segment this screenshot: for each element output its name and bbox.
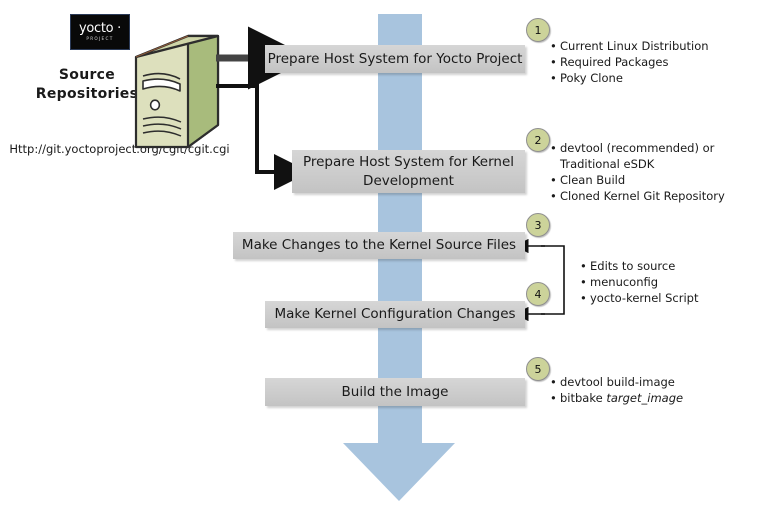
bullet-dot-icon: • — [580, 258, 590, 274]
process-box-step-2-label: Prepare Host System for Kernel Developme… — [292, 153, 525, 191]
process-box-step-5-label: Build the Image — [342, 383, 449, 402]
step-number-4: 4 — [526, 282, 550, 306]
bullet-dot-icon: • — [580, 274, 590, 290]
process-box-step-3[interactable]: Make Changes to the Kernel Source Files — [233, 232, 525, 259]
bullet-dot-icon: • — [550, 172, 560, 188]
process-box-step-3-label: Make Changes to the Kernel Source Files — [242, 236, 516, 255]
process-box-step-2[interactable]: Prepare Host System for Kernel Developme… — [292, 150, 525, 193]
step-number-3: 3 — [526, 213, 550, 237]
process-box-step-5[interactable]: Build the Image — [265, 378, 525, 406]
process-box-step-1[interactable]: Prepare Host System for Yocto Project — [265, 45, 525, 73]
step-number-5: 5 — [526, 357, 550, 381]
process-box-step-4-label: Make Kernel Configuration Changes — [274, 305, 515, 324]
step-number-4-value: 4 — [535, 288, 542, 301]
list-item: • devtool (recommended) or Traditional e… — [550, 140, 766, 172]
bullet-text: Clean Build — [560, 172, 766, 188]
bullet-list-step-1: • Current Linux Distribution • Required … — [550, 38, 764, 86]
list-item: • devtool build-image — [550, 374, 760, 390]
logo-subtitle: PROJECT — [86, 36, 113, 42]
server-tower-icon — [133, 33, 221, 153]
bullet-text: Poky Clone — [560, 70, 764, 86]
list-item: • Required Packages — [550, 54, 764, 70]
step-number-5-value: 5 — [535, 363, 542, 376]
bullet-text: menuconfig — [590, 274, 760, 290]
flow-arrow-head — [343, 443, 455, 501]
process-box-step-1-label: Prepare Host System for Yocto Project — [268, 50, 523, 69]
list-item: • Poky Clone — [550, 70, 764, 86]
bullet-text: yocto-kernel Script — [590, 290, 760, 306]
logo-wordmark: yocto · — [79, 22, 121, 35]
diagram-canvas: yocto · PROJECT Source Repositories Http… — [0, 0, 769, 517]
list-item: • Current Linux Distribution — [550, 38, 764, 54]
bullet-dot-icon: • — [550, 188, 560, 204]
list-item: • Cloned Kernel Git Repository — [550, 188, 766, 204]
bullet-text: Required Packages — [560, 54, 764, 70]
bullet-dot-icon: • — [550, 38, 560, 54]
bullet-text-wrapper: bitbake target_image — [560, 390, 760, 406]
step-number-2-value: 2 — [535, 134, 542, 147]
bullet-text: devtool (recommended) or Traditional eSD… — [560, 140, 766, 172]
list-item: • Clean Build — [550, 172, 766, 188]
list-item: • menuconfig — [580, 274, 760, 290]
step-number-1: 1 — [526, 18, 550, 42]
bullet-dot-icon: • — [550, 390, 560, 406]
bullet-text: bitbake — [560, 391, 606, 405]
bullet-dot-icon: • — [550, 70, 560, 86]
step-number-2: 2 — [526, 128, 550, 152]
step-number-3-value: 3 — [535, 219, 542, 232]
step-number-1-value: 1 — [535, 24, 542, 37]
bullet-dot-icon: • — [550, 140, 560, 156]
bullet-dot-icon: • — [580, 290, 590, 306]
list-item: • bitbake target_image — [550, 390, 760, 406]
bullet-text: Edits to source — [590, 258, 760, 274]
bullet-text-italic: target_image — [606, 391, 683, 405]
bullet-list-steps-3-4: • Edits to source • menuconfig • yocto-k… — [580, 258, 760, 306]
bullet-dot-icon: • — [550, 374, 560, 390]
yocto-project-logo: yocto · PROJECT — [70, 14, 130, 50]
bullet-list-step-2: • devtool (recommended) or Traditional e… — [550, 140, 766, 204]
list-item: • Edits to source — [580, 258, 760, 274]
list-item: • yocto-kernel Script — [580, 290, 760, 306]
bullet-dot-icon: • — [550, 54, 560, 70]
process-box-step-4[interactable]: Make Kernel Configuration Changes — [265, 301, 525, 328]
bullet-text: Current Linux Distribution — [560, 38, 764, 54]
bullet-text: devtool build-image — [560, 374, 760, 390]
bullet-text: Cloned Kernel Git Repository — [560, 188, 766, 204]
bullet-list-step-5: • devtool build-image • bitbake target_i… — [550, 374, 760, 406]
